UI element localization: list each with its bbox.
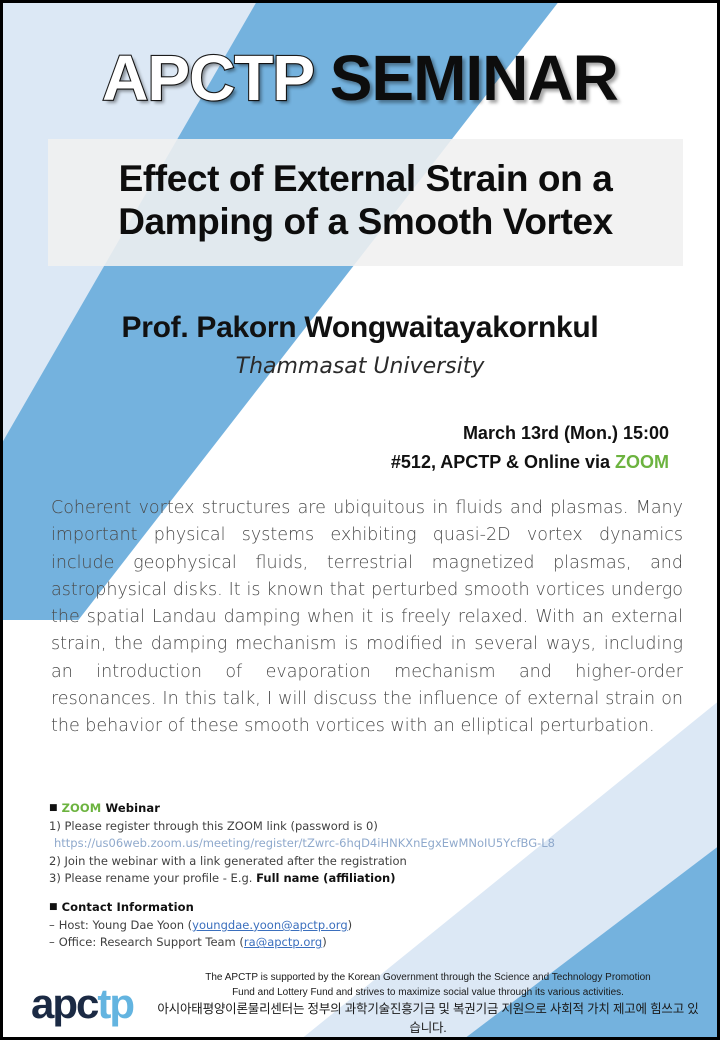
dash-icon: – [49,935,55,949]
header-brand: APCTP [102,42,313,114]
footer-line-1: The APCTP is supported by the Korean Gov… [153,971,703,986]
contact-heading-label: Contact Information [62,900,194,914]
webinar-section-heading: ■ZOOM Webinar [49,801,679,815]
apctp-logo: apctp [3,983,153,1025]
webinar-step-1: 1) Please register through this ZOOM lin… [49,818,679,835]
contact-office-row: –Office: Research Support Team (ra@apctp… [49,934,679,951]
webinar-step-2: 2) Join the webinar with a link generate… [49,853,679,870]
contact-host-suffix: ) [348,918,353,932]
contact-section: ■Contact Information –Host: Young Dae Yo… [49,900,679,952]
contact-host-row: –Host: Young Dae Yoon (youngdae.yoon@apc… [49,917,679,934]
footer-disclaimer: The APCTP is supported by the Korean Gov… [153,971,717,1036]
contact-host-email[interactable]: youngdae.yoon@apctp.org [192,918,347,932]
title-panel: Effect of External Strain on a Damping o… [48,139,683,266]
abstract-text: Coherent vortex structures are ubiquitou… [51,495,683,741]
event-venue: #512, APCTP & Online via ZOOM [391,452,669,473]
speaker-name: Prof. Pakorn Wongwaitayakornkul [3,311,717,345]
dash-icon: – [49,918,55,932]
contact-host-label: Host: Young Dae Yoon ( [59,918,192,932]
speaker-panel: Prof. Pakorn Wongwaitayakornkul Thammasa… [3,311,717,379]
speaker-affiliation: Thammasat University [3,354,717,379]
footer-line-2: Fund and Lottery Fund and strives to max… [153,986,703,1001]
contact-office-label: Office: Research Support Team ( [59,935,244,949]
info-panel: ■ZOOM Webinar 1) Please register through… [49,801,679,952]
square-bullet-icon: ■ [49,902,58,912]
contact-office-email[interactable]: ra@apctp.org [244,935,322,949]
webinar-section: ■ZOOM Webinar 1) Please register through… [49,801,679,888]
footer-line-3-korean: 아시아태평양이론물리센터는 정부의 과학기술진흥기금 및 복권기금 지원으로 사… [153,1000,703,1036]
webinar-step-3-emphasis: Full name (affiliation) [256,871,395,885]
square-bullet-icon: ■ [49,803,58,813]
webinar-step-3-prefix: 3) Please rename your profile - E.g. [49,871,256,885]
webinar-heading-rest: Webinar [101,801,160,815]
webinar-step-3: 3) Please rename your profile - E.g. Ful… [49,870,679,887]
event-venue-prefix: #512, APCTP & Online via [391,452,615,472]
event-datetime: March 13rd (Mon.) 15:00 [391,423,669,444]
poster-footer: apctp The APCTP is supported by the Kore… [3,971,717,1037]
contact-section-heading: ■Contact Information [49,900,679,914]
poster-header: APCTP SEMINAR [3,41,717,115]
webinar-heading-zoom: ZOOM [62,801,102,815]
webinar-registration-link[interactable]: https://us06web.zoom.us/meeting/register… [49,835,679,852]
contact-office-suffix: ) [322,935,327,949]
apctp-logo-dark-part: apc [31,980,97,1027]
seminar-poster: APCTP SEMINAR Effect of External Strain … [0,0,720,1040]
event-meta: March 13rd (Mon.) 15:00 #512, APCTP & On… [391,423,669,481]
seminar-title: Effect of External Strain on a Damping o… [64,157,667,244]
event-venue-zoom: ZOOM [615,452,669,472]
apctp-logo-blue-part: tp [97,980,133,1027]
header-seminar-label: SEMINAR [313,42,618,114]
